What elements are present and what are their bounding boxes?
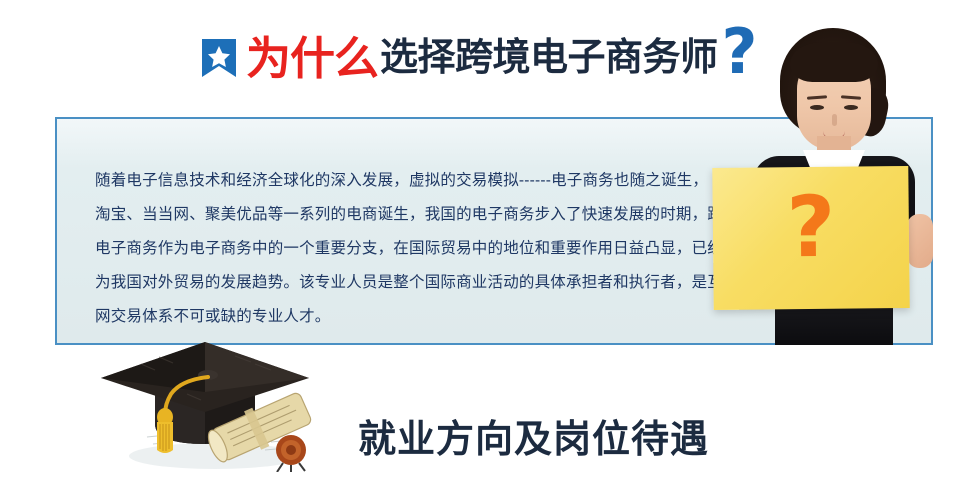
graduation-cap-icon [95,332,335,472]
page-title-dark: 选择跨境电子商务师 [380,39,718,77]
hand-right [907,214,933,268]
page-title-red: 为什么 [246,36,378,81]
eye-left [810,105,824,110]
panel-line: 随着电子信息技术和经济全球化的深入发展，虚拟的交易模拟------电子商务也随之… [95,164,695,198]
suit-lower [775,308,893,345]
eyebrow-left [807,95,827,99]
hair-fringe [790,42,878,82]
nose [832,114,837,126]
eye-right [844,105,858,110]
panel-line: 为我国对外贸易的发展趋势。该专业人员是整个国际商业活动的具体承担者和执行者，是互… [95,266,695,300]
poster-canvas: 为什么 选择跨境电子商务师 ? 随着电子信息技术和经济全球化的深入发展，虚拟的交… [0,0,970,480]
panel-line: 电子商务作为电子商务中的一个重要分支，在国际贸易中的地位和重要作用日益凸显，已经… [95,232,695,266]
eyebrow-right [841,95,861,99]
panel-body-text: 随着电子信息技术和经济全球化的深入发展，虚拟的交易模拟------电子商务也随之… [95,164,695,334]
bookmark-star-icon [200,37,238,79]
page-title: 为什么 选择跨境电子商务师 ? [200,28,758,88]
panel-line: 网交易体系不可或缺的专业人才。 [95,300,695,334]
sign-question-mark-icon: ? [712,184,909,270]
title-question-mark-icon: ? [722,26,758,79]
panel-line: 淘宝、当当网、聚美优品等一系列的电商诞生，我国的电子商务步入了快速发展的时期，跨… [95,198,695,232]
yellow-sign-board: ? [712,166,909,310]
bottom-heading: 就业方向及岗位待遇 [358,408,709,463]
